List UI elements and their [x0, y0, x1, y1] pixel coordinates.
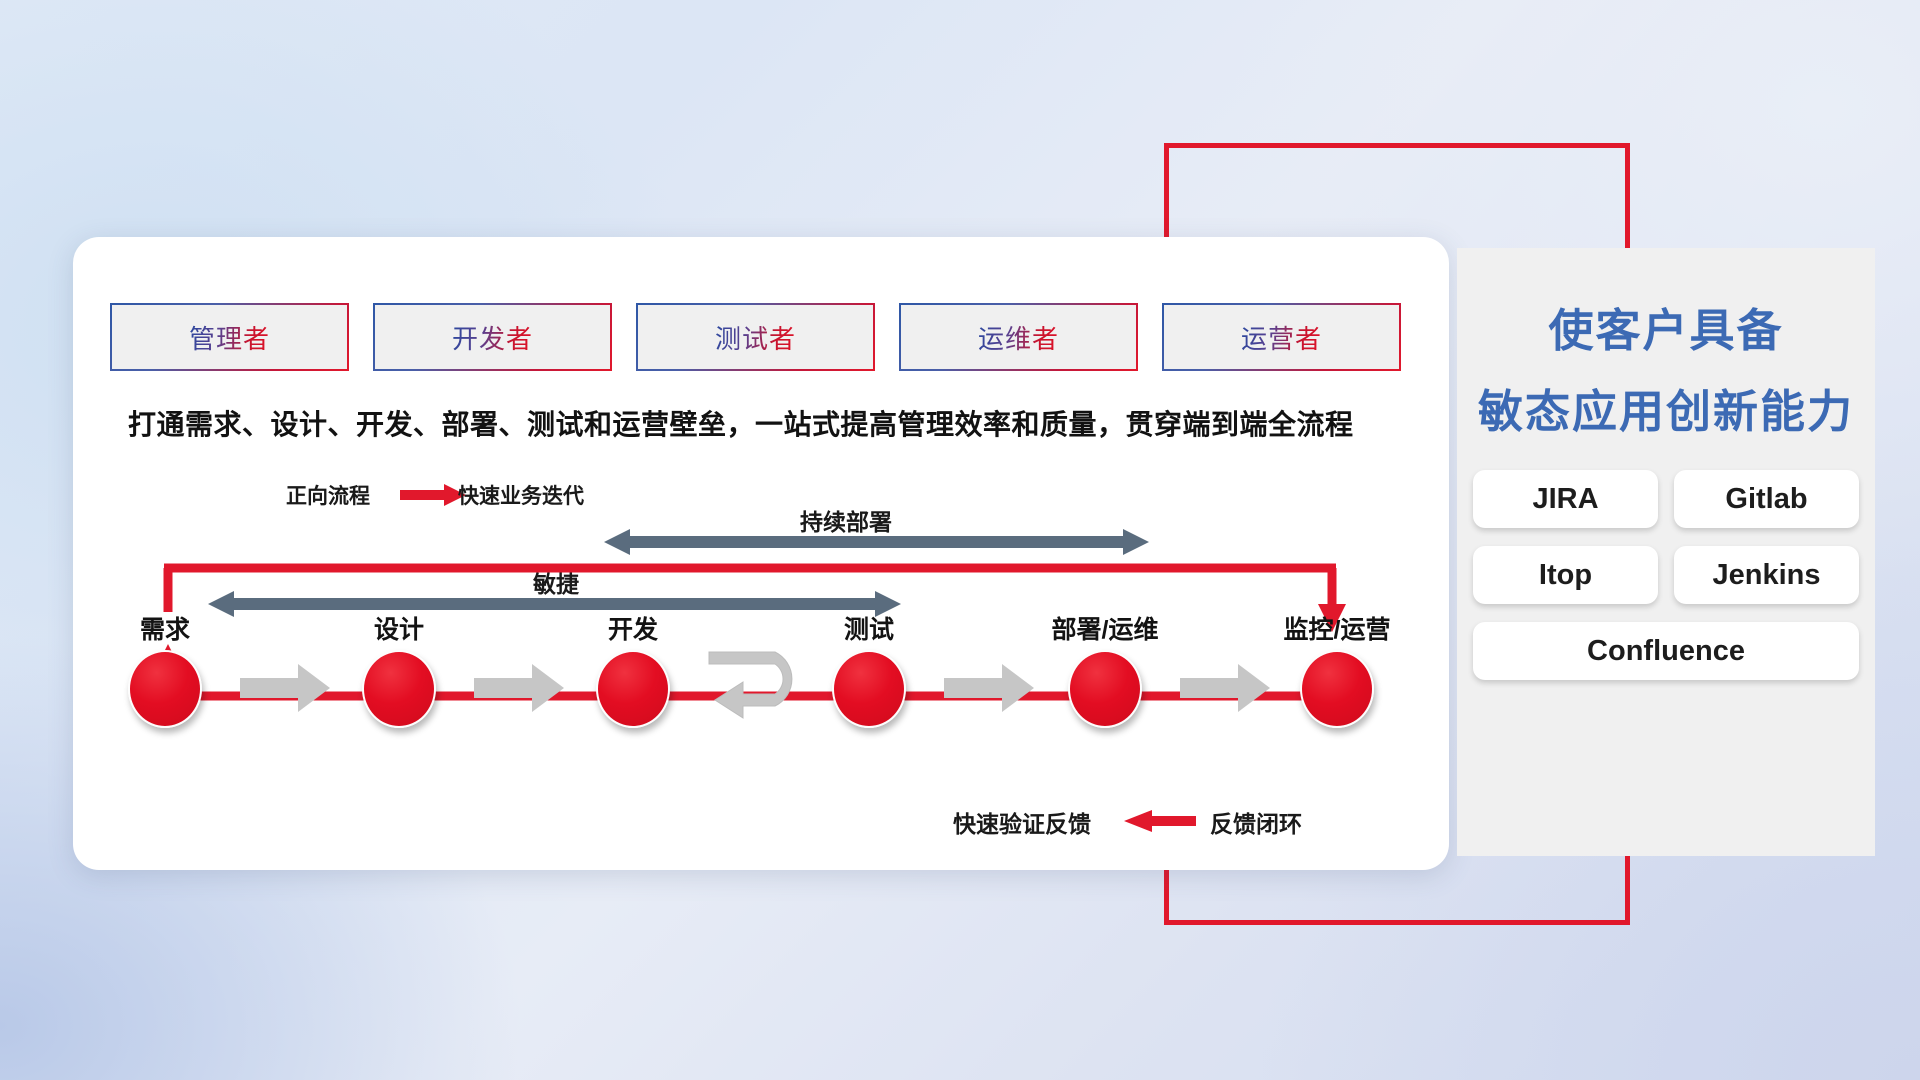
panel-title-line1: 使客户具备 — [1457, 294, 1875, 359]
tool-chip-confluence[interactable]: Confluence — [1473, 622, 1859, 680]
step-arrow-3-icon — [1180, 664, 1270, 712]
pipeline-node-2[interactable]: 开发 — [596, 650, 670, 728]
role-box-2[interactable]: 测试者 — [636, 303, 875, 371]
panel-title-line2: 敏态应用创新能力 — [1457, 375, 1875, 440]
pipeline-node-label: 设计 — [374, 610, 424, 646]
pipeline-node-4[interactable]: 部署/运维 — [1068, 650, 1142, 728]
role-box-3[interactable]: 运维者 — [899, 303, 1138, 371]
pipeline-node-label: 需求 — [140, 610, 190, 646]
pipeline-node-dot — [832, 650, 906, 728]
capability-panel: 使客户具备 敏态应用创新能力 JIRA Gitlab Itop Jenkins … — [1457, 248, 1875, 856]
pipeline-node-label: 部署/运维 — [1052, 610, 1159, 646]
pipeline-node-dot — [596, 650, 670, 728]
tool-chip-gitlab[interactable]: Gitlab — [1674, 470, 1859, 528]
tool-label: JIRA — [1532, 483, 1598, 516]
role-label: 开发者 — [452, 319, 533, 356]
headline-text: 打通需求、设计、开发、部署、测试和运营壁垒，一站式提高管理效率和质量，贯穿端到端… — [128, 403, 1438, 443]
forward-flow-arrow-icon — [400, 484, 466, 506]
pipeline-node-dot — [362, 650, 436, 728]
pipeline-node-label: 测试 — [844, 610, 894, 646]
role-box-0[interactable]: 管理者 — [110, 303, 349, 371]
tool-chip-jira[interactable]: JIRA — [1473, 470, 1658, 528]
pipeline-node-dot — [128, 650, 202, 728]
tool-label: Confluence — [1587, 635, 1745, 668]
pipeline-node-dot — [1068, 650, 1142, 728]
slide-canvas: 管理者 开发者 测试者 运维者 运营者 打通需求、设计、开发、部署、测试和运营壁… — [0, 0, 1920, 1080]
role-label: 运营者 — [1241, 319, 1322, 356]
red-frame-bottom — [1164, 920, 1630, 925]
pipeline-node-3[interactable]: 测试 — [832, 650, 906, 728]
fast-feedback-label: 快速验证反馈 — [953, 805, 1091, 839]
role-box-1[interactable]: 开发者 — [373, 303, 612, 371]
tool-chip-itop[interactable]: Itop — [1473, 546, 1658, 604]
tool-list: JIRA Gitlab Itop Jenkins Confluence — [1457, 470, 1875, 680]
continuous-deployment-arrow-icon — [604, 527, 1149, 557]
pipeline-node-label: 监控/运营 — [1284, 610, 1391, 646]
red-frame-top — [1164, 143, 1630, 148]
role-label: 测试者 — [715, 319, 796, 356]
role-box-4[interactable]: 运营者 — [1162, 303, 1401, 371]
pipeline-node-dot — [1300, 650, 1374, 728]
role-label: 运维者 — [978, 319, 1059, 356]
step-arrow-0-icon — [240, 664, 330, 712]
step-arrow-2-icon — [944, 664, 1034, 712]
pipeline-node-1[interactable]: 设计 — [362, 650, 436, 728]
pipeline-node-5[interactable]: 监控/运营 — [1300, 650, 1374, 728]
cycle-loop-arrow-icon — [703, 644, 815, 722]
fast-iteration-label: 快速业务迭代 — [458, 480, 584, 510]
role-box-row: 管理者 开发者 测试者 运维者 运营者 — [110, 303, 1401, 371]
role-label: 管理者 — [189, 319, 270, 356]
tool-label: Gitlab — [1725, 483, 1807, 516]
forward-flow-label: 正向流程 — [286, 480, 370, 510]
step-arrow-1-icon — [474, 664, 564, 712]
pipeline-node-0[interactable]: 需求 — [128, 650, 202, 728]
tool-chip-jenkins[interactable]: Jenkins — [1674, 546, 1859, 604]
tool-label: Jenkins — [1713, 559, 1821, 592]
tool-label: Itop — [1539, 559, 1592, 592]
pipeline-node-label: 开发 — [608, 610, 658, 646]
feedback-loop-arrow-icon — [1124, 810, 1196, 832]
feedback-loop-label: 反馈闭环 — [1210, 805, 1302, 839]
